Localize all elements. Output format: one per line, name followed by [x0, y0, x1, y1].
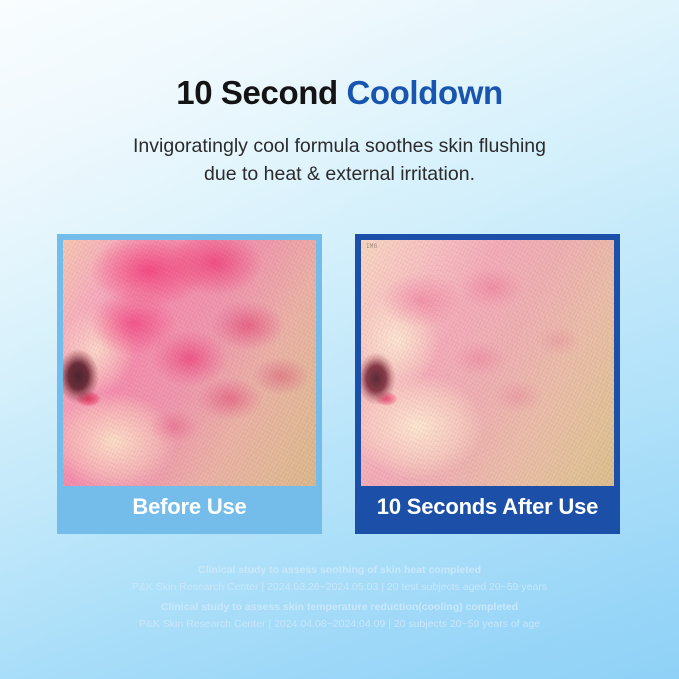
footnote-title: Clinical study to assess soothing of ski… — [0, 562, 679, 579]
footnote-detail: P&K Skin Research Center | 2024.04.08~20… — [0, 616, 679, 633]
headline-accent: Cooldown — [346, 74, 502, 111]
promo-banner: 10 Second Cooldown Invigoratingly cool f… — [0, 0, 679, 679]
skin-image-before — [63, 240, 316, 492]
after-caption-label: 10 Seconds After Use — [377, 494, 598, 520]
footnote-title: Clinical study to assess skin temperatur… — [0, 599, 679, 616]
page-title: 10 Second Cooldown — [0, 74, 679, 112]
subheadline-line-1: Invigoratingly cool formula soothes skin… — [0, 133, 679, 161]
before-photo — [63, 240, 316, 492]
before-panel: Before Use — [57, 234, 322, 534]
subheadline: Invigoratingly cool formula soothes skin… — [0, 133, 679, 188]
before-caption-label: Before Use — [132, 494, 246, 520]
after-panel: IMG 10 Seconds After Use — [355, 234, 620, 534]
before-caption-bar: Before Use — [63, 486, 316, 528]
footnote-block: Clinical study to assess soothing of ski… — [0, 562, 679, 596]
clinical-study-footnotes: Clinical study to assess soothing of ski… — [0, 562, 679, 636]
after-photo: IMG — [361, 240, 614, 492]
before-after-comparison: Before Use IMG 10 Seconds After Use — [0, 234, 679, 536]
subheadline-line-2: due to heat & external irritation. — [0, 161, 679, 189]
after-caption-bar: 10 Seconds After Use — [361, 486, 614, 528]
skin-image-after — [361, 240, 614, 492]
footnote-detail: P&K Skin Research Center | 2024.03.26~20… — [0, 579, 679, 596]
banner-content: 10 Second Cooldown Invigoratingly cool f… — [0, 0, 679, 679]
footnote-block: Clinical study to assess skin temperatur… — [0, 599, 679, 633]
headline-plain: 10 Second — [176, 74, 346, 111]
